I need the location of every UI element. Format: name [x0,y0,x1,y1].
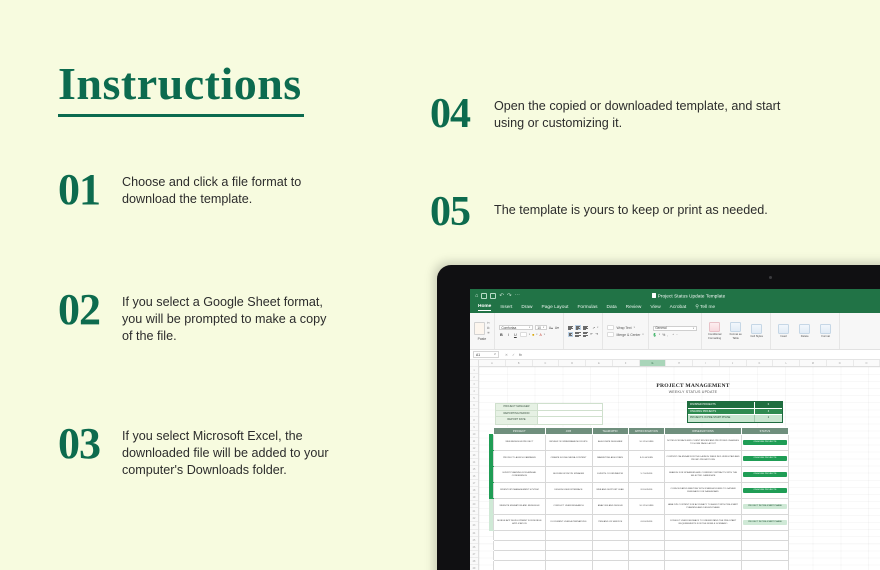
row-header-26[interactable]: 26 [470,544,478,551]
tab-acrobat[interactable]: Acrobat [670,305,687,310]
column-header-h[interactable]: H [666,360,693,366]
cell-approximation[interactable]: 10-12 HOURS [628,499,664,515]
ribbon-group-font[interactable]: Comfortaa ▾ 10 ▾ A▴ A▾ B I U [495,313,564,349]
cell-approximation[interactable]: 10-12 HOURS [628,435,664,451]
row-header-5[interactable]: 5 [470,395,478,402]
cell-job[interactable] [545,531,592,541]
cell-status[interactable]: ONGOING PROJECTS [741,435,788,451]
corner-select-all[interactable] [470,360,478,367]
fill-color-button[interactable]: ■ [532,333,534,337]
grid-main[interactable]: ABCDEFGHIJKLMNOP PROJECT MANAGEMENT WEEK… [479,360,880,570]
cell-team[interactable]: ITEM AND UX SERVICE [592,515,628,531]
align-top-icon[interactable] [568,325,574,330]
workbook-icon [652,293,656,298]
info-value[interactable] [538,404,602,410]
step-number: 02 [58,288,100,332]
cell-team[interactable]: ASSOCIATE DESIGNER [592,435,628,451]
document-title-wrap: Project Status Update Template [470,293,880,299]
row-header-29[interactable]: 29 [470,565,478,570]
row-header-22[interactable]: 22 [470,515,478,522]
table-row[interactable]: WEB REDESIGN PROJECTREVIEW OF WIREFRAME … [490,435,789,451]
cell-team[interactable]: MARKETING ASSOCIATE [592,451,628,467]
column-header-n[interactable]: N [827,360,854,366]
comma-style-icon[interactable]: , [667,333,668,337]
chevron-down-icon[interactable]: ▾ [529,326,530,329]
table-row-empty[interactable] [490,551,789,561]
instruction-step-04: 04 Open the copied or downloaded templat… [430,92,830,136]
cell-job[interactable]: CONDUCT USER RESEARCH [545,499,592,515]
row-header-1[interactable]: 1 [470,367,478,374]
row-header-24[interactable]: 24 [470,530,478,537]
align-left-icon[interactable] [568,332,574,337]
ribbon[interactable]: ✄ ⧉ ✳ Paste Comfortaa ▾ 10 [470,313,880,350]
summary-value: 0 [754,402,782,408]
increase-font-size-icon[interactable]: A▴ [549,326,553,330]
row-header-28[interactable]: 28 [470,558,478,565]
format-label: Format [821,335,830,338]
row-header-18[interactable]: 18 [470,487,478,494]
cell-job[interactable] [545,551,592,561]
status-badge: ONGOING PROJECTS [743,488,787,494]
tab-formulas[interactable]: Formulas [577,305,597,310]
delete-icon [799,324,810,334]
column-header-a[interactable]: A [479,360,506,366]
step-text: If you select Microsoft Excel, the downl… [122,422,348,479]
cell-observations[interactable] [665,561,742,570]
excel-titlebar: ⌂ ↶ ↷ ⋯ Project Status Update Template [470,289,880,302]
chevron-down-icon[interactable]: ▾ [659,333,660,336]
summary-row: PROJECTS IN PRE-START PHASE 2 [688,415,782,422]
cell-status[interactable] [741,561,788,570]
row-header-14[interactable]: 14 [470,459,478,466]
row-header-17[interactable]: 17 [470,480,478,487]
row-header-3[interactable]: 3 [470,381,478,388]
cancel-icon[interactable]: ✕ [505,353,508,357]
row-header-25[interactable]: 25 [470,537,478,544]
info-row: REPORT DATE [496,417,602,424]
sheet-title-block: PROJECT MANAGEMENT WEEKLY STATUS UPDATE [479,383,880,394]
cell-team[interactable] [592,551,628,561]
status-badge: ONGOING PROJECTS [743,456,787,462]
step-number: 05 [430,190,470,234]
merge-center-label: Merge & Center [616,333,640,337]
summary-value: 2 [754,415,782,422]
borders-button[interactable] [520,332,527,338]
increase-decimal-icon[interactable]: ⁺ [672,333,674,337]
cell-project[interactable]: WEBSITE MIGRATION AND REDESIGN [494,499,545,515]
clipboard-group-label: Paste [474,337,490,341]
tab-data[interactable]: Data [606,305,616,310]
format-as-table-label: Format as Table [727,333,745,339]
table-row[interactable]: WEBSITE MIGRATION AND REDESIGNCONDUCT US… [490,499,789,515]
cell-project[interactable]: PRODUCT LAUNCH CAMPAIGN [494,451,545,467]
cell-status[interactable] [741,551,788,561]
align-center-icon[interactable] [575,332,581,337]
cell-job[interactable]: DESIGN USER INTERFACE [545,483,592,499]
cell-project[interactable]: INVENTORY MANAGEMENT SYSTEM [494,483,545,499]
column-headers[interactable]: ABCDEFGHIJKLMNOP [479,360,880,367]
instruction-step-05: 05 The template is yours to keep or prin… [430,190,850,234]
summary-label: PROJECTS IN PRE-START PHASE [688,415,754,422]
summary-label: ONGOING PROJECTS [688,409,754,415]
format-painter-icon[interactable]: ✳ [487,331,490,335]
cell-status[interactable]: PROJECT IN PRE-START PHASE [741,515,788,531]
row-header-9[interactable]: 9 [470,424,478,431]
ribbon-group-styles[interactable]: Conditional Formatting Format as Table C… [702,313,771,349]
italic-button[interactable]: I [506,332,511,337]
cell-team[interactable]: ANALYSIS AND DESIGN [592,499,628,515]
cell-job[interactable]: DOCUMENT USER ALTERNATIVES [545,515,592,531]
row-header-12[interactable]: 12 [470,445,478,452]
cell-approximation[interactable] [628,541,664,551]
cell-job[interactable] [545,561,592,570]
tab-insert[interactable]: Insert [500,305,512,310]
status-badge: PROJECT IN PRE-START PHASE [743,504,787,510]
cell-team[interactable] [592,531,628,541]
cut-icon[interactable]: ✄ [487,321,490,325]
sheet-title: PROJECT MANAGEMENT [479,383,880,389]
insert-label: Insert [780,335,787,338]
project-summary-box: FINISHED PROJECTS 0 ONGOING PROJECTS 3 P… [687,401,783,423]
ribbon-tabs[interactable]: Home Insert Draw Page Layout Formulas Da… [470,302,880,313]
cell-approximation[interactable]: 6-8 HOURS [628,515,664,531]
underline-button[interactable]: U [513,332,518,337]
cell-project[interactable] [494,561,545,570]
column-header-f[interactable]: F [613,360,640,366]
decrease-decimal-icon[interactable]: ⁻ [676,333,678,337]
laptop-screen: ⌂ ↶ ↷ ⋯ Project Status Update Template H… [470,289,880,570]
cell-observations[interactable]: ANALYZE CONTENT FOR ACCURACY TO ASSIST W… [665,499,742,515]
cell-status[interactable]: ONGOING PROJECTS [741,467,788,483]
table-header-row: PROJECT JOB TEAM/WHO APPROXIMATION OBSER… [490,428,789,435]
title-underline [58,114,304,117]
format-as-table-icon [730,322,741,332]
sheet-content[interactable]: PROJECT MANAGEMENT WEEKLY STATUS UPDATE … [479,367,880,570]
cell-job[interactable]: SECURE KEYNOTE SPEAKER [545,467,592,483]
name-box[interactable]: A1 ⇵ [473,351,499,358]
cell-observations[interactable] [665,531,742,541]
column-header-g[interactable]: G [640,360,667,366]
align-middle-icon[interactable] [575,325,581,330]
cell-approximation[interactable]: 5-7 HOURS [628,467,664,483]
table-row-empty[interactable] [490,531,789,541]
chevron-down-icon[interactable]: ▾ [642,333,643,336]
cell-observations[interactable] [665,551,742,561]
cell-approximation[interactable]: 8-10 HOURS [628,451,664,467]
column-header-b[interactable]: B [506,360,533,366]
font-family-value: Comfortaa [501,326,516,330]
column-header-o[interactable]: O [854,360,880,366]
conditional-formatting-label: Conditional Formatting [706,333,724,339]
increase-indent-icon[interactable]: ⇥ [595,332,598,336]
row-header-15[interactable]: 15 [470,466,478,473]
tab-home[interactable]: Home [478,304,491,312]
row-header-20[interactable]: 20 [470,501,478,508]
font-family-select[interactable]: Comfortaa ▾ [499,325,533,331]
merge-center-icon[interactable] [607,332,614,338]
row-header-7[interactable]: 7 [470,409,478,416]
format-as-table-button[interactable]: Format as Table [727,322,745,339]
table-row-empty[interactable] [490,561,789,570]
cell-observations[interactable]: CONTENT CALENDAR FOR THE LAUNCH WEEK INC… [665,451,742,467]
cell-status[interactable] [741,531,788,541]
orientation-icon[interactable]: ↗ [592,326,595,330]
cell-team[interactable] [592,561,628,570]
cell-project[interactable]: MOBILE APP DEVELOPMENT FOR MOBILE APPLIC… [494,515,545,531]
cell-observations[interactable]: CONSULT USER FEEDBACK TO UNDERSTAND THE … [665,515,742,531]
spreadsheet-grid[interactable]: 1234567891011121314151617181920212223242… [470,360,880,570]
insert-icon [778,324,789,334]
status-badge: PROJECT IN PRE-START PHASE [743,520,787,526]
column-header-d[interactable]: D [559,360,586,366]
page-title-block: Instructions [58,58,388,117]
row-header-10[interactable]: 10 [470,431,478,438]
row-header-16[interactable]: 16 [470,473,478,480]
status-table[interactable]: PROJECT JOB TEAM/WHO APPROXIMATION OBSER… [489,427,789,570]
row-header-2[interactable]: 2 [470,374,478,381]
column-header-i[interactable]: I [693,360,720,366]
sheet-subtitle: WEEKLY STATUS UPDATE [479,390,880,394]
col-project[interactable]: PROJECT [494,428,545,435]
cell-team[interactable]: EVENTS COORDINATOR [592,467,628,483]
chevron-down-icon[interactable]: ▾ [536,333,537,336]
cell-status[interactable] [741,541,788,551]
instruction-step-01: 01 Choose and click a file format to dow… [58,168,388,212]
column-header-c[interactable]: C [533,360,560,366]
ribbon-group-cells[interactable]: Insert Delete Format [771,313,840,349]
col-observations[interactable]: OBSERVATIONS [665,428,742,435]
insert-cells-button[interactable]: Insert [775,324,793,338]
step-number: 01 [58,168,100,212]
info-label: PROJECT MANAGER [496,404,538,410]
chevron-down-icon[interactable]: ▾ [544,333,545,336]
chevron-down-icon[interactable]: ▾ [529,333,530,336]
project-info-box[interactable]: PROJECT MANAGER REPORTING PERIOD REPORT … [495,403,603,425]
percent-style-icon[interactable]: % [662,333,665,337]
tell-me-search[interactable]: ⚲ Tell me [695,305,715,310]
cell-observations[interactable] [665,541,742,551]
insert-function-icon[interactable]: fx [519,353,522,357]
conditional-formatting-icon [709,322,720,332]
column-header-m[interactable]: M [800,360,827,366]
table-row[interactable]: EVENT PLANNING FOR ANNUAL CONFERENCESECU… [490,467,789,483]
tab-review[interactable]: Review [626,305,642,310]
cell-project[interactable] [494,551,545,561]
row-header-11[interactable]: 11 [470,438,478,445]
instruction-step-02: 02 If you select a Google Sheet format, … [58,288,398,345]
row-headers[interactable]: 1234567891011121314151617181920212223242… [470,360,479,570]
info-label: REPORTING PERIOD [496,411,538,417]
step-number: 03 [58,422,100,466]
cell-job[interactable] [545,541,592,551]
delete-cells-button[interactable]: Delete [796,324,814,338]
row-header-8[interactable]: 8 [470,417,478,424]
step-text: Choose and click a file format to downlo… [122,168,322,208]
tell-me-label: Tell me [700,305,715,310]
cell-observations[interactable]: CONSOLIDATED MEETING WITH STAKEHOLDERS T… [665,483,742,499]
table-row[interactable]: PRODUCT LAUNCH CAMPAIGNCREATE SOCIAL MED… [490,451,789,467]
step-text: The template is yours to keep or print a… [494,190,794,219]
col-approximation[interactable]: APPROXIMATION [628,428,664,435]
font-size-select[interactable]: 10 ▾ [535,325,547,331]
column-header-l[interactable]: L [773,360,800,366]
bold-button[interactable]: B [499,332,504,337]
table-body[interactable]: WEB REDESIGN PROJECTREVIEW OF WIREFRAME … [490,435,789,570]
column-header-e[interactable]: E [586,360,613,366]
status-badge: ONGOING PROJECTS [743,440,787,446]
cell-status[interactable]: ONGOING PROJECTS [741,451,788,467]
cell-project[interactable]: WEB REDESIGN PROJECT [494,435,545,451]
formula-bar[interactable]: A1 ⇵ ✕ ✓ fx [470,350,880,360]
cell-approximation[interactable]: 8-9 HOURS [628,483,664,499]
cell-status[interactable]: ONGOING PROJECTS [741,483,788,499]
cell-status[interactable]: PROJECT IN PRE-START PHASE [741,499,788,515]
cell-styles-label: Cell Styles [750,335,763,338]
instruction-step-03: 03 If you select Microsoft Excel, the do… [58,422,398,479]
row-header-27[interactable]: 27 [470,551,478,558]
chevron-down-icon[interactable]: ▾ [634,326,635,329]
format-icon [820,324,831,334]
step-number: 04 [430,92,470,136]
document-title: Project Status Update Template [658,293,726,298]
cell-team[interactable] [592,541,628,551]
page-title: Instructions [58,58,388,110]
font-color-button[interactable]: A [540,333,542,337]
paste-button[interactable] [474,322,485,335]
info-label: REPORT DATE [496,417,538,424]
number-format-select[interactable]: General ▾ [653,326,697,332]
row-header-6[interactable]: 6 [470,402,478,409]
align-right-icon[interactable] [583,332,589,337]
chevron-down-icon[interactable]: ▾ [693,327,694,330]
align-bottom-icon[interactable] [583,325,589,330]
table-row[interactable]: MOBILE APP DEVELOPMENT FOR MOBILE APPLIC… [490,515,789,531]
name-box-value: A1 [476,353,480,357]
column-header-j[interactable]: J [720,360,747,366]
decrease-indent-icon[interactable]: ⇤ [590,332,593,336]
formula-bar-icons[interactable]: ✕ ✓ fx [505,353,522,357]
ribbon-group-clipboard[interactable]: ✄ ⧉ ✳ Paste [470,313,495,349]
row-header-13[interactable]: 13 [470,452,478,459]
cell-project[interactable] [494,531,545,541]
step-text: Open the copied or downloaded template, … [494,92,806,132]
chevron-down-icon[interactable]: ▾ [543,326,544,329]
delete-label: Delete [801,335,809,338]
cell-approximation[interactable] [628,531,664,541]
cell-project[interactable]: EVENT PLANNING FOR ANNUAL CONFERENCE [494,467,545,483]
cell-team[interactable]: WEB AND SUPPORT LEAD [592,483,628,499]
col-status[interactable]: STATUS [741,428,788,435]
ribbon-group-wrap-merge[interactable]: Wrap Text ▾ Merge & Center ▾ [603,313,648,349]
cell-styles-button[interactable]: Cell Styles [748,324,766,338]
table-row[interactable]: INVENTORY MANAGEMENT SYSTEMDESIGN USER I… [490,483,789,499]
cell-approximation[interactable] [628,551,664,561]
cell-job[interactable]: REVIEW OF WIREFRAME MOCKUPS [545,435,592,451]
row-header-19[interactable]: 19 [470,494,478,501]
cell-observations[interactable]: NOTES FOR BACK-END CLIENT REVIEW AND PRO… [665,435,742,451]
col-team[interactable]: TEAM/WHO [592,428,628,435]
cell-styles-icon [751,324,762,334]
font-size-value: 10 [537,326,541,330]
step-text: If you select a Google Sheet format, you… [122,288,337,345]
summary-value: 3 [754,409,782,415]
decrease-font-size-icon[interactable]: A▾ [555,326,559,330]
enter-icon[interactable]: ✓ [512,353,515,357]
laptop-mockup: ⌂ ↶ ↷ ⋯ Project Status Update Template H… [437,265,880,570]
copy-icon[interactable]: ⧉ [487,326,490,330]
cell-approximation[interactable] [628,561,664,570]
accounting-format-icon[interactable]: 💲 [653,333,657,337]
summary-label: FINISHED PROJECTS [688,402,754,408]
wrap-text-icon[interactable] [607,325,614,331]
info-value[interactable] [538,411,602,417]
col-job[interactable]: JOB [545,428,592,435]
info-value[interactable] [538,417,602,424]
wrap-text-label: Wrap Text [616,326,631,330]
tab-view[interactable]: View [650,305,660,310]
tab-draw[interactable]: Draw [521,305,532,310]
conditional-formatting-button[interactable]: Conditional Formatting [706,322,724,339]
tab-page-layout[interactable]: Page Layout [542,305,569,310]
cell-job[interactable]: CREATE SOCIAL MEDIA CONTENT [545,451,592,467]
table-row-empty[interactable] [490,541,789,551]
cell-observations[interactable]: SEARCH FOR SPEAKERS AND CONFIRM CONTRACT… [665,467,742,483]
ribbon-group-number[interactable]: General ▾ 💲 ▾ % , ⁺ ⁻ [649,313,702,349]
row-header-23[interactable]: 23 [470,522,478,529]
format-cells-button[interactable]: Format [817,324,835,338]
number-format-value: General [655,326,666,330]
chevron-down-icon[interactable]: ▾ [597,326,598,329]
status-badge: ONGOING PROJECTS [743,472,787,478]
instructions-page: Instructions 01 Choose and click a file … [0,0,880,570]
ribbon-group-alignment[interactable]: ↗ ▾ ⇤ ⇥ [564,313,604,349]
column-header-k[interactable]: K [747,360,774,366]
chevron-down-icon[interactable]: ⇵ [494,353,496,356]
webcam-icon [769,276,772,279]
row-header-21[interactable]: 21 [470,508,478,515]
row-header-4[interactable]: 4 [470,388,478,395]
cell-project[interactable] [494,541,545,551]
